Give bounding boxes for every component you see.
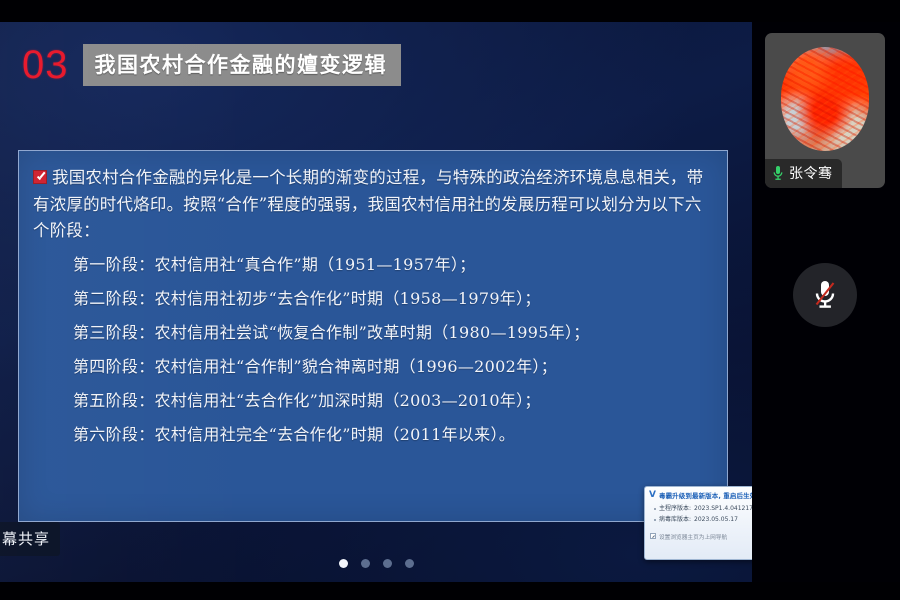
stage-item-3: 第三阶段：农村信用社尝试“恢复合作制”改革时期（1980—1995年）； <box>33 325 711 341</box>
page-dot-2[interactable] <box>361 559 370 568</box>
bullet-icon <box>654 508 656 510</box>
lead-paragraph-wrapper: 我国农村合作金融的异化是一个长期的渐变的过程，与特殊的政治经济环境息息相关，带有… <box>33 165 711 245</box>
stage-item-2: 第二阶段：农村信用社初步“去合作化”时期（1958—1979年）； <box>33 291 711 307</box>
toast-header: V 毒霸升级到最新版本, 重启后生效 ⚲ ✕ <box>645 487 752 501</box>
page-dot-3[interactable] <box>383 559 392 568</box>
slide-title-chip: 我国农村合作金融的嬗变逻辑 <box>83 44 402 86</box>
main-version-label: 主程序版本: <box>659 503 691 514</box>
microphone-on-icon <box>772 165 784 181</box>
stage-item-1: 第一阶段：农村信用社“真合作”期（1951—1957年）； <box>33 257 711 273</box>
lead-paragraph: 我国农村合作金融的异化是一个长期的渐变的过程，与特殊的政治经济环境息息相关，带有… <box>33 168 703 240</box>
red-checkbox-icon <box>33 170 47 184</box>
stage-item-4: 第四阶段：农村信用社“合作制”貌合神离时期（1996—2002年）； <box>33 359 711 375</box>
microphone-muted-icon <box>812 279 838 311</box>
bullet-icon <box>654 519 656 521</box>
main-version-value: 2023.SP1.4.041217 <box>694 503 752 514</box>
kingsoft-logo-icon: V <box>649 491 656 500</box>
letterbox-top <box>0 0 900 22</box>
set-homepage-checkbox-row[interactable]: 设置浏览器主页为上网导航 <box>650 532 727 541</box>
screen-share-indicator: 幕共享 <box>0 522 60 556</box>
page-dot-1[interactable] <box>339 559 348 568</box>
stage-item-5: 第五阶段：农村信用社“去合作化”加深时期（2003—2010年）； <box>33 393 711 409</box>
slide-page-indicator[interactable] <box>0 559 752 568</box>
slide-section-number: 03 <box>22 45 69 85</box>
antivirus-update-toast[interactable]: V 毒霸升级到最新版本, 重启后生效 ⚲ ✕ 主程序版本: 2023.SP1.4… <box>644 486 752 560</box>
virus-db-label: 病毒库版本: <box>659 514 691 525</box>
set-homepage-label: 设置浏览器主页为上网导航 <box>659 532 727 541</box>
slide-title-row: 03 我国农村合作金融的嬗变逻辑 <box>22 44 401 86</box>
shared-slide[interactable]: 03 我国农村合作金融的嬗变逻辑 我国农村合作金融的异化是一个长期的渐变的过程，… <box>0 22 752 582</box>
letterbox-bottom <box>0 582 900 600</box>
participant-avatar <box>781 47 869 151</box>
participant-video-tile[interactable]: 张令骞 <box>765 33 885 188</box>
participant-name-badge: 张令骞 <box>765 159 842 188</box>
toast-row-virus-db-version: 病毒库版本: 2023.05.05.17 <box>654 514 752 525</box>
participant-name: 张令骞 <box>789 163 833 183</box>
stage-item-6: 第六阶段：农村信用社完全“去合作化”时期（2011年以来）。 <box>33 427 711 443</box>
toast-title: 毒霸升级到最新版本, 重启后生效 <box>659 490 752 500</box>
set-homepage-checkbox[interactable] <box>650 533 656 539</box>
stage-list: 第一阶段：农村信用社“真合作”期（1951—1957年）； 第二阶段：农村信用社… <box>33 257 711 443</box>
toast-footer: 设置浏览器主页为上网导航 我知道了 <box>645 526 752 548</box>
slide-content-card: 我国农村合作金融的异化是一个长期的渐变的过程，与特殊的政治经济环境息息相关，带有… <box>18 150 728 522</box>
page-dot-4[interactable] <box>405 559 414 568</box>
toast-row-main-version: 主程序版本: 2023.SP1.4.041217 <box>654 503 752 514</box>
toast-version-rows: 主程序版本: 2023.SP1.4.041217 病毒库版本: 2023.05.… <box>645 501 752 526</box>
virus-db-value: 2023.05.05.17 <box>694 514 738 525</box>
mute-toggle-button[interactable] <box>793 263 857 327</box>
meeting-screen-share-view: 03 我国农村合作金融的嬗变逻辑 我国农村合作金融的异化是一个长期的渐变的过程，… <box>0 0 900 600</box>
